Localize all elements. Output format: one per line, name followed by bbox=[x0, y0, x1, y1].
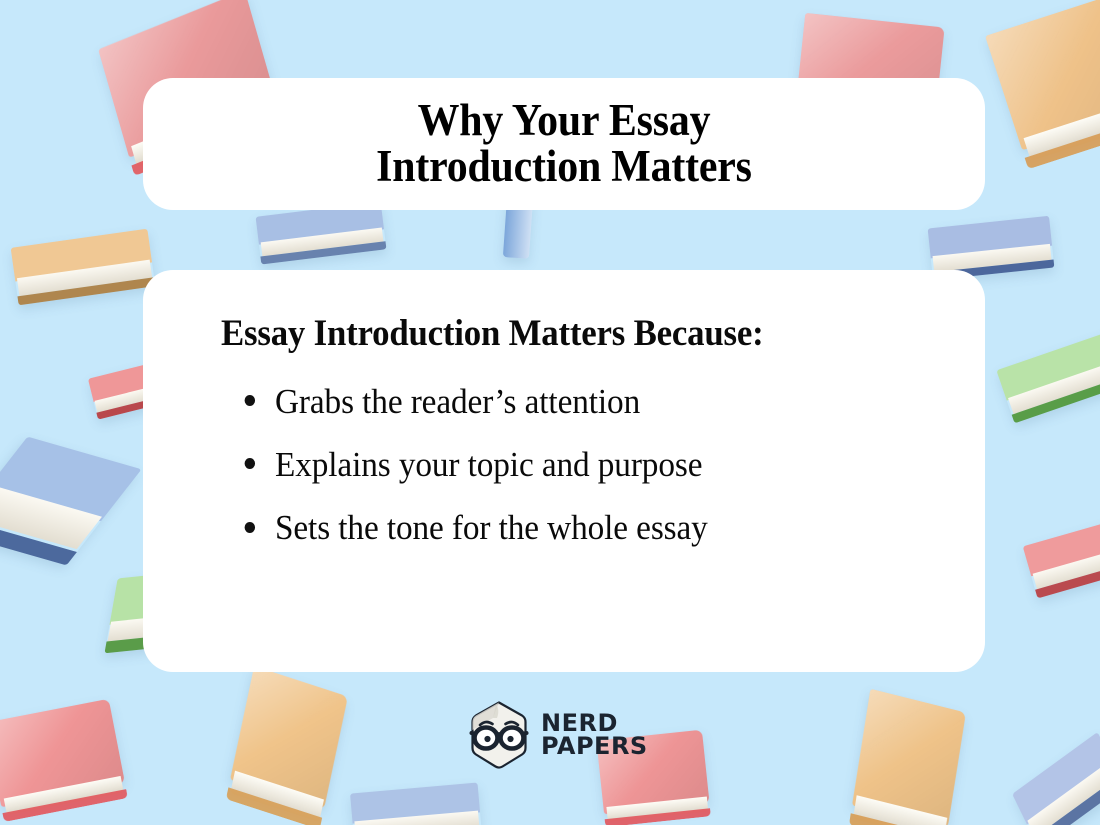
brand-wordmark: NERD PAPERS bbox=[541, 712, 648, 758]
book-top-center-blue bbox=[256, 202, 387, 265]
body-card-content: Essay Introduction Matters Because: Grab… bbox=[143, 270, 985, 672]
book-bottom-periwinkle bbox=[1012, 732, 1100, 825]
benefits-list: Grabs the reader’s attention Explains yo… bbox=[221, 382, 933, 548]
book-bottom-left-pink bbox=[0, 699, 125, 807]
page-title: Why Your Essay Introduction Matters bbox=[376, 98, 752, 190]
page-title-line-2: Introduction Matters bbox=[376, 144, 752, 190]
book-bottom-center-blue bbox=[350, 783, 482, 825]
page-title-line-1: Why Your Essay bbox=[376, 98, 752, 144]
book-bottom-tan-open bbox=[230, 666, 348, 810]
book-left-blue-edge bbox=[0, 437, 142, 566]
list-item: Sets the tone for the whole essay bbox=[237, 508, 898, 547]
book-right-green bbox=[996, 329, 1100, 424]
book-left-tan bbox=[11, 229, 156, 306]
body-card: Essay Introduction Matters Because: Grab… bbox=[143, 270, 985, 672]
book-bottom-right-tan bbox=[852, 689, 966, 825]
nerd-face-logo-icon bbox=[466, 700, 532, 770]
poster-canvas: Why Your Essay Introduction Matters Essa… bbox=[0, 0, 1100, 825]
list-item: Grabs the reader’s attention bbox=[237, 382, 898, 421]
brand-name-line-2: PAPERS bbox=[541, 735, 648, 758]
body-subheading: Essay Introduction Matters Because: bbox=[221, 312, 823, 356]
list-item: Explains your topic and purpose bbox=[237, 445, 898, 484]
book-right-pink-mid bbox=[1023, 516, 1100, 599]
brand-logo: NERD PAPERS bbox=[466, 698, 636, 772]
book-top-right-tan bbox=[985, 0, 1100, 150]
title-card: Why Your Essay Introduction Matters bbox=[143, 78, 985, 210]
